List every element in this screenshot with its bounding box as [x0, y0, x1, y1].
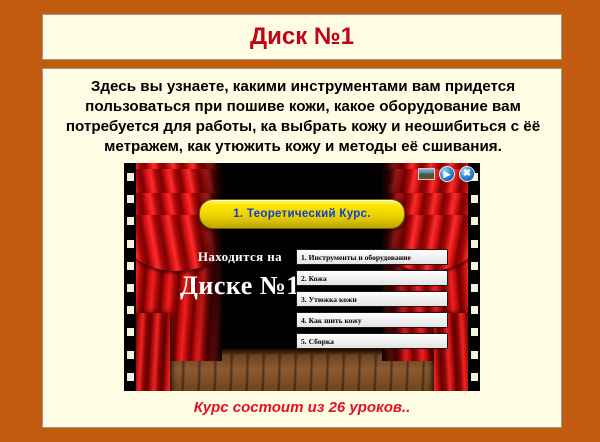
list-item[interactable]: 2. Кожа	[296, 270, 448, 286]
disc-location-big: Диске №1	[180, 271, 300, 301]
lesson-menu: 1. Инструменты и оборудование 2. Кожа 3.…	[296, 249, 448, 354]
content-panel: Здесь вы узнаете, какими инструментами в…	[42, 68, 562, 428]
filmstrip-right	[468, 163, 480, 391]
image-thumbnail-icon[interactable]	[418, 168, 435, 180]
course-banner: 1. Теоретический Курс.	[199, 199, 405, 229]
disc-location-small: Находится на	[180, 249, 300, 265]
course-banner-label: 1. Теоретический Курс.	[233, 208, 371, 220]
close-icon[interactable]: ✖	[459, 166, 475, 182]
disc-location-label: Находится на Диске №1	[180, 249, 300, 301]
slide-frame: Диск №1 Здесь вы узнаете, какими инструм…	[0, 0, 600, 442]
stage-scene: 1. Теоретический Курс. Находится на Диск…	[136, 163, 468, 391]
player-controls[interactable]: ▶ ✖	[418, 166, 475, 182]
list-item[interactable]: 3. Утюжка кожи	[296, 291, 448, 307]
curtain-tail-left	[136, 313, 170, 391]
filmstrip-left	[124, 163, 136, 391]
play-icon[interactable]: ▶	[439, 166, 455, 182]
title-panel: Диск №1	[42, 14, 562, 60]
page-title: Диск №1	[250, 23, 354, 51]
list-item[interactable]: 4. Как шить кожу	[296, 312, 448, 328]
list-item[interactable]: 1. Инструменты и оборудование	[296, 249, 448, 265]
video-preview[interactable]: 1. Теоретический Курс. Находится на Диск…	[124, 163, 480, 391]
course-caption: Курс состоит из 26 уроков..	[194, 399, 411, 416]
list-item[interactable]: 5. Сборка	[296, 333, 448, 349]
description-text: Здесь вы узнаете, какими инструментами в…	[49, 77, 557, 157]
